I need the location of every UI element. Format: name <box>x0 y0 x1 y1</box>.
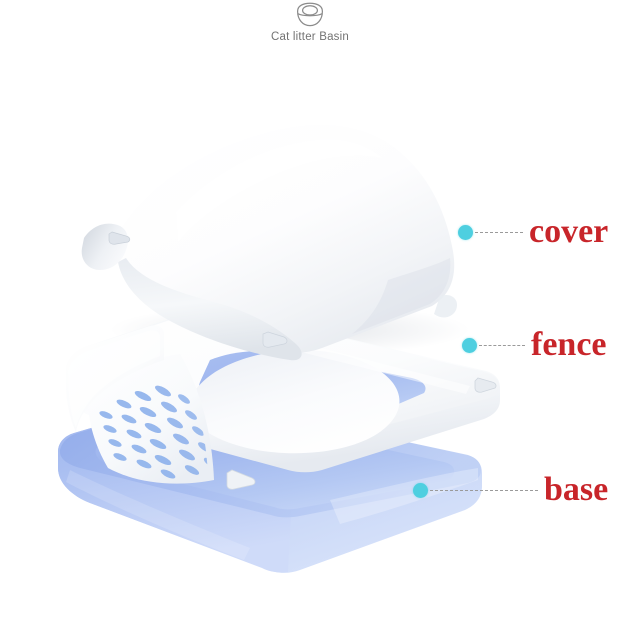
callout-label-base: base <box>544 473 608 507</box>
product-illustration <box>0 0 620 620</box>
callout-leader-line-fence <box>479 345 525 346</box>
callout-leader-line-cover <box>475 232 523 233</box>
product-exploded-view <box>0 0 620 620</box>
callout-leader-line-base <box>430 490 538 491</box>
callout-dot-fence <box>462 338 477 353</box>
callout-dot-cover <box>458 225 473 240</box>
callout-label-fence: fence <box>531 328 607 362</box>
callout-label-cover: cover <box>529 215 608 249</box>
callout-dot-base <box>413 483 428 498</box>
